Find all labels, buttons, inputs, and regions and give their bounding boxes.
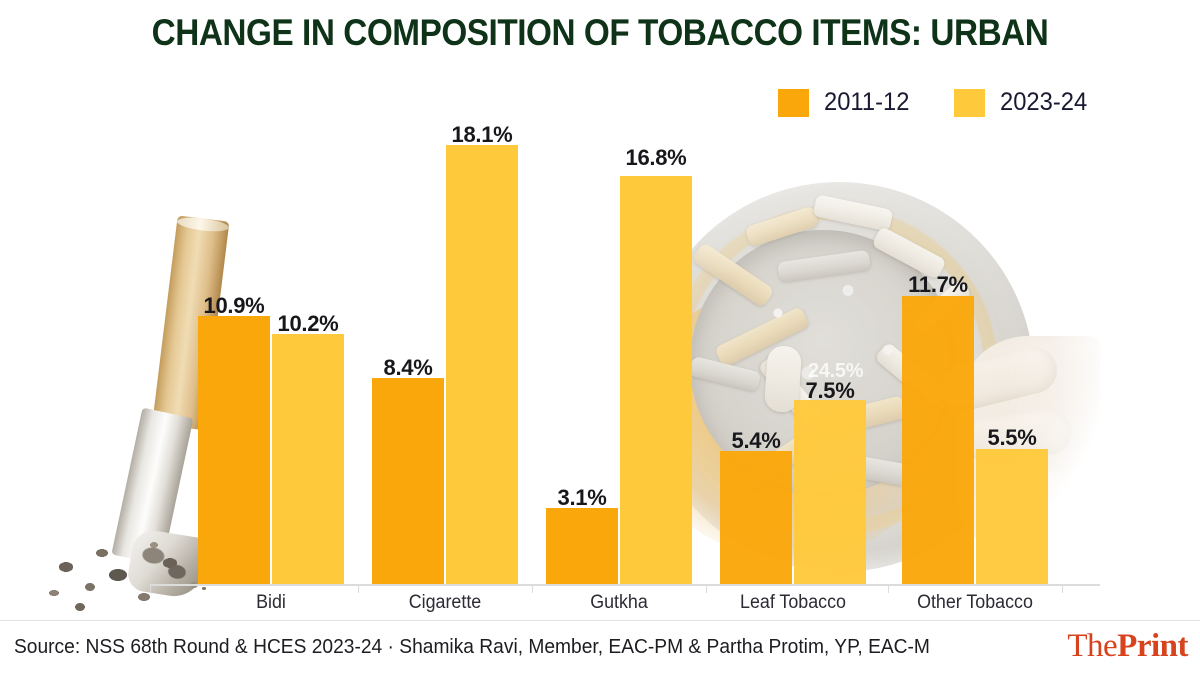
bar-label-other-tobacco-2011-12: 11.7%	[902, 272, 974, 298]
x-label-bidi: Bidi	[202, 592, 339, 614]
x-label-gutkha: Gutkha	[550, 592, 687, 614]
bar-bidi-2011-12[interactable]	[198, 316, 270, 584]
axis-tick	[1062, 584, 1063, 593]
brand-print: Print	[1117, 628, 1188, 664]
theprint-logo[interactable]: ThePrint	[1067, 628, 1188, 665]
bar-leaf-tobacco-2011-12[interactable]	[720, 451, 792, 584]
chart-canvas: CHANGE IN COMPOSITION OF TOBACCO ITEMS: …	[0, 0, 1200, 675]
x-label-other-tobacco: Other Tobacco	[906, 592, 1043, 614]
ghost-label-24-5: 24.5%	[808, 360, 863, 383]
bar-label-bidi-2011-12: 10.9%	[198, 293, 270, 319]
bar-label-leaf-tobacco-2011-12: 5.4%	[720, 428, 792, 454]
bar-label-other-tobacco-2023-24: 5.5%	[976, 425, 1048, 451]
bar-label-cigarette-2011-12: 8.4%	[372, 355, 444, 381]
bar-other-tobacco-2011-12[interactable]	[902, 296, 974, 584]
bar-bidi-2023-24[interactable]	[272, 334, 344, 584]
x-label-cigarette: Cigarette	[376, 592, 513, 614]
axis-tick	[888, 584, 889, 593]
bar-cigarette-2011-12[interactable]	[372, 378, 444, 584]
plot-area: 10.9% 10.2% Bidi 8.4% 18.1% Cigarette 3.…	[0, 0, 1200, 675]
axis-tick	[532, 584, 533, 593]
bar-label-gutkha-2011-12: 3.1%	[546, 485, 618, 511]
axis-tick	[358, 584, 359, 593]
bar-other-tobacco-2023-24[interactable]	[976, 449, 1048, 584]
bar-label-gutkha-2023-24: 16.8%	[620, 145, 692, 171]
source-note: Source: NSS 68th Round & HCES 2023-24 · …	[14, 636, 930, 659]
x-label-leaf-tobacco: Leaf Tobacco	[724, 592, 861, 614]
bar-label-bidi-2023-24: 10.2%	[272, 311, 344, 337]
bar-gutkha-2023-24[interactable]	[620, 176, 692, 584]
bar-gutkha-2011-12[interactable]	[546, 508, 618, 584]
axis-tick	[150, 584, 151, 593]
x-axis-baseline	[150, 584, 1100, 586]
bar-cigarette-2023-24[interactable]	[446, 145, 518, 584]
brand-the: The	[1067, 628, 1117, 664]
bar-leaf-tobacco-2023-24[interactable]	[794, 400, 866, 584]
axis-tick	[706, 584, 707, 593]
bar-label-cigarette-2023-24: 18.1%	[446, 122, 518, 148]
footer-divider	[0, 620, 1200, 621]
